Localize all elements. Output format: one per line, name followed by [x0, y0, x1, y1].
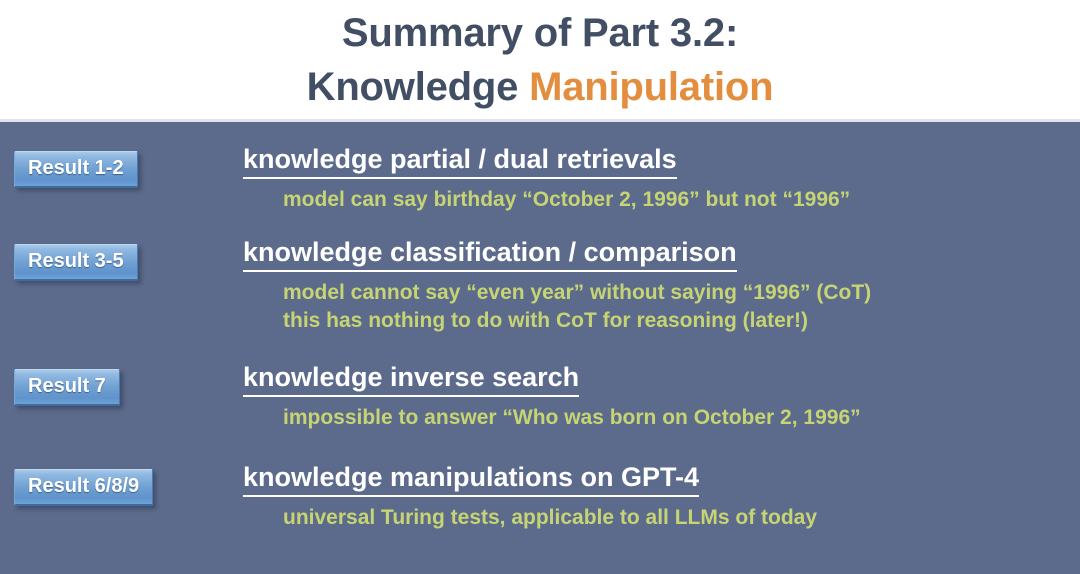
- result-heading: knowledge classification / comparison: [243, 236, 737, 272]
- result-sublines: universal Turing tests, applicable to al…: [243, 504, 1063, 532]
- result-heading: knowledge manipulations on GPT-4: [243, 461, 699, 497]
- title-line-2-accent: Manipulation: [529, 65, 773, 109]
- result-heading: knowledge partial / dual retrievals: [243, 143, 677, 179]
- result-subline: model can say birthday “October 2, 1996”…: [283, 186, 1063, 214]
- result-content: knowledge partial / dual retrievals mode…: [243, 143, 1063, 214]
- result-badge[interactable]: Result 7: [14, 369, 120, 406]
- result-subline: universal Turing tests, applicable to al…: [283, 504, 1063, 532]
- title-line-1: Summary of Part 3.2:: [342, 7, 738, 60]
- slide: Summary of Part 3.2: Knowledge Manipulat…: [0, 0, 1080, 574]
- result-badge[interactable]: Result 6/8/9: [14, 469, 153, 506]
- result-content: knowledge classification / comparison mo…: [243, 236, 1063, 335]
- result-heading: knowledge inverse search: [243, 361, 579, 397]
- result-badge[interactable]: Result 1-2: [14, 151, 138, 188]
- result-subline: this has nothing to do with CoT for reas…: [283, 307, 1063, 335]
- slide-title-block: Summary of Part 3.2: Knowledge Manipulat…: [0, 0, 1080, 119]
- content-panel: Result 1-2 knowledge partial / dual retr…: [0, 122, 1080, 574]
- result-sublines: impossible to answer “Who was born on Oc…: [243, 404, 1063, 432]
- result-content: knowledge manipulations on GPT-4 univers…: [243, 461, 1063, 532]
- result-sublines: model cannot say “even year” without say…: [243, 279, 1063, 334]
- result-subline: impossible to answer “Who was born on Oc…: [283, 404, 1063, 432]
- result-sublines: model can say birthday “October 2, 1996”…: [243, 186, 1063, 214]
- title-line-2-plain: Knowledge: [307, 65, 529, 109]
- title-line-2: Knowledge Manipulation: [307, 61, 774, 114]
- result-subline: model cannot say “even year” without say…: [283, 279, 1063, 307]
- result-badge[interactable]: Result 3-5: [14, 244, 138, 281]
- result-content: knowledge inverse search impossible to a…: [243, 361, 1063, 432]
